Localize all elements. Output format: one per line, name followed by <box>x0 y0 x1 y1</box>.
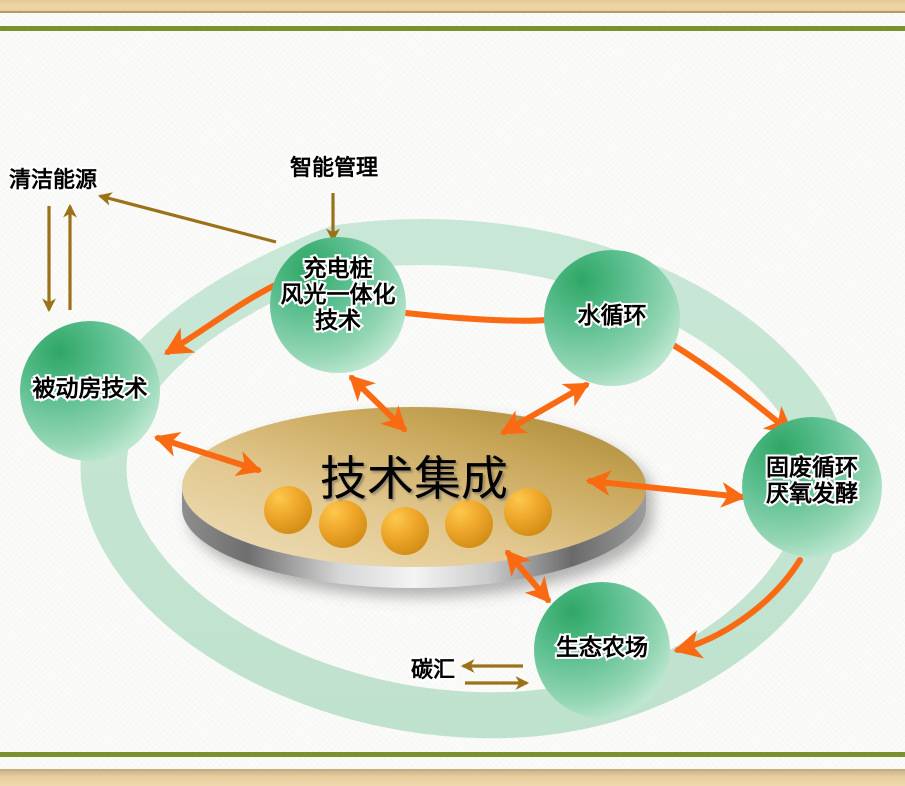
node-passive-house[interactable] <box>20 321 160 461</box>
node-water-cycle[interactable] <box>544 250 680 386</box>
diagram-artwork <box>0 0 905 786</box>
node-solid-waste[interactable] <box>742 417 882 557</box>
node-eco-farm[interactable] <box>534 582 670 718</box>
clean-energy-inbound-arrow <box>100 196 276 242</box>
link-charging-to-water <box>406 313 546 321</box>
technology-integration-disc <box>182 407 646 588</box>
node-charging-pile[interactable] <box>270 237 406 373</box>
slide-canvas: 充电桩 风光一体化 技术 充电桩 风光一体化 技术 水循环 水循环 固废循环 厌… <box>0 0 905 786</box>
